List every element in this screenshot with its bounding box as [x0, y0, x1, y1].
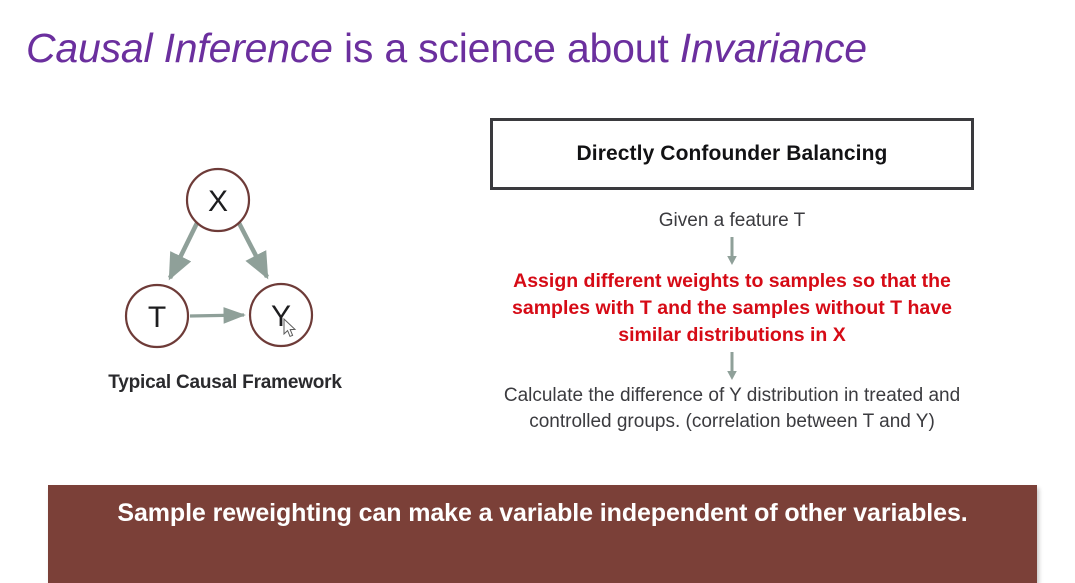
- page-title-lead: Causal Inference: [26, 25, 333, 71]
- down-arrow-icon-1: [725, 236, 739, 266]
- edge-x-to-t: [170, 223, 197, 278]
- method-flow-column: Directly Confounder Balancing Given a fe…: [490, 118, 974, 435]
- node-t-label: T: [148, 301, 166, 334]
- summary-banner-text: Sample reweighting can make a variable i…: [93, 496, 993, 531]
- edge-t-to-y: [190, 315, 244, 316]
- flow-step-calculate: Calculate the difference of Y distributi…: [490, 383, 974, 435]
- method-title-text: Directly Confounder Balancing: [577, 142, 888, 166]
- flow-step-given: Given a feature T: [490, 208, 974, 234]
- causal-graph-svg: X T Y: [80, 150, 380, 360]
- flow-step-assign: Assign different weights to samples so t…: [490, 268, 974, 349]
- node-x: X: [187, 169, 249, 231]
- node-x-label: X: [208, 185, 228, 218]
- node-y: Y: [250, 284, 312, 346]
- summary-banner: Sample reweighting can make a variable i…: [48, 485, 1037, 583]
- page-title-tail: Invariance: [680, 25, 867, 71]
- page-title: Causal Inference is a science about Inva…: [26, 22, 1046, 74]
- method-title-box: Directly Confounder Balancing: [490, 118, 974, 190]
- edge-x-to-y: [239, 223, 267, 277]
- page-title-mid: is a science about: [333, 25, 680, 71]
- node-t: T: [126, 285, 188, 347]
- node-y-label: Y: [271, 300, 291, 333]
- down-arrow-icon-2: [725, 351, 739, 381]
- causal-graph-diagram: X T Y: [80, 150, 380, 360]
- diagram-caption: Typical Causal Framework: [40, 372, 410, 394]
